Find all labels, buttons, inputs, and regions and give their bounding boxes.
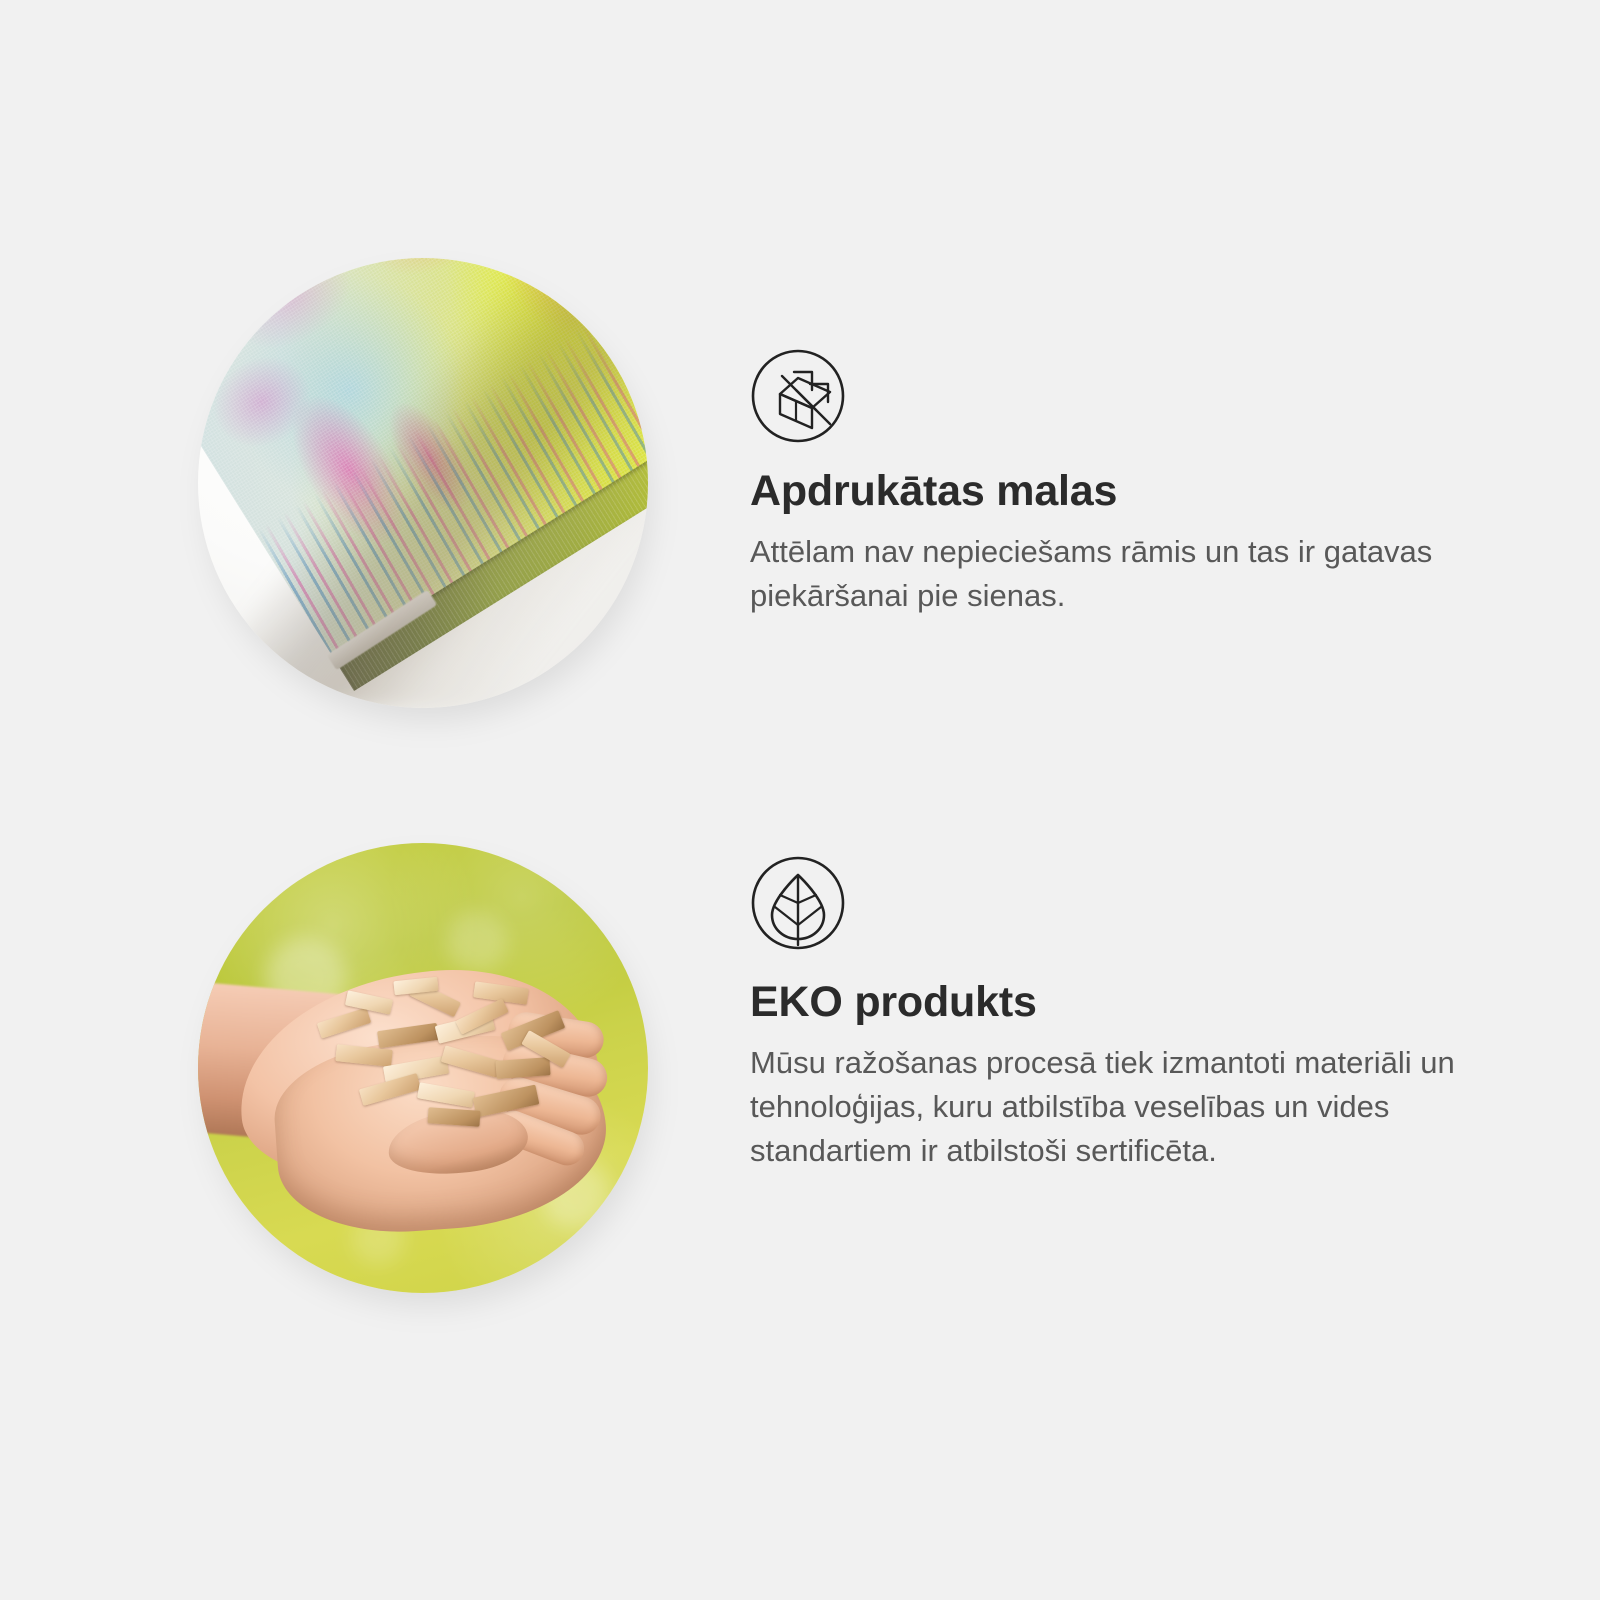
wood-chip (317, 1007, 371, 1038)
wood-chip (441, 1045, 501, 1077)
wood-chips-in-hands-photo (198, 843, 648, 1293)
wood-chip (417, 1082, 475, 1107)
printed-edges-icon (750, 348, 846, 444)
feature-panel: Apdrukātas malas Attēlam nav nepieciešam… (0, 0, 1600, 1600)
wood-chip (473, 1085, 540, 1118)
feature-description: Attēlam nav nepieciešams rāmis un tas ir… (750, 530, 1455, 618)
wall-cast-shadow (198, 258, 648, 708)
feature-title: EKO produkts (750, 979, 1470, 1026)
wood-chip (428, 1107, 481, 1127)
feature-title: Apdrukātas malas (750, 468, 1470, 515)
media-circle (198, 258, 648, 708)
media-circle (198, 843, 648, 1293)
wood-chip (495, 1057, 550, 1079)
leaf-icon (750, 855, 846, 951)
canvas-corner-photo (198, 258, 648, 708)
feature-description: Mūsu ražošanas procesā tiek izmantoti ma… (750, 1041, 1455, 1173)
wood-chip-pile (306, 975, 596, 1135)
wood-chip (335, 1044, 392, 1067)
wood-chip (377, 1023, 439, 1048)
